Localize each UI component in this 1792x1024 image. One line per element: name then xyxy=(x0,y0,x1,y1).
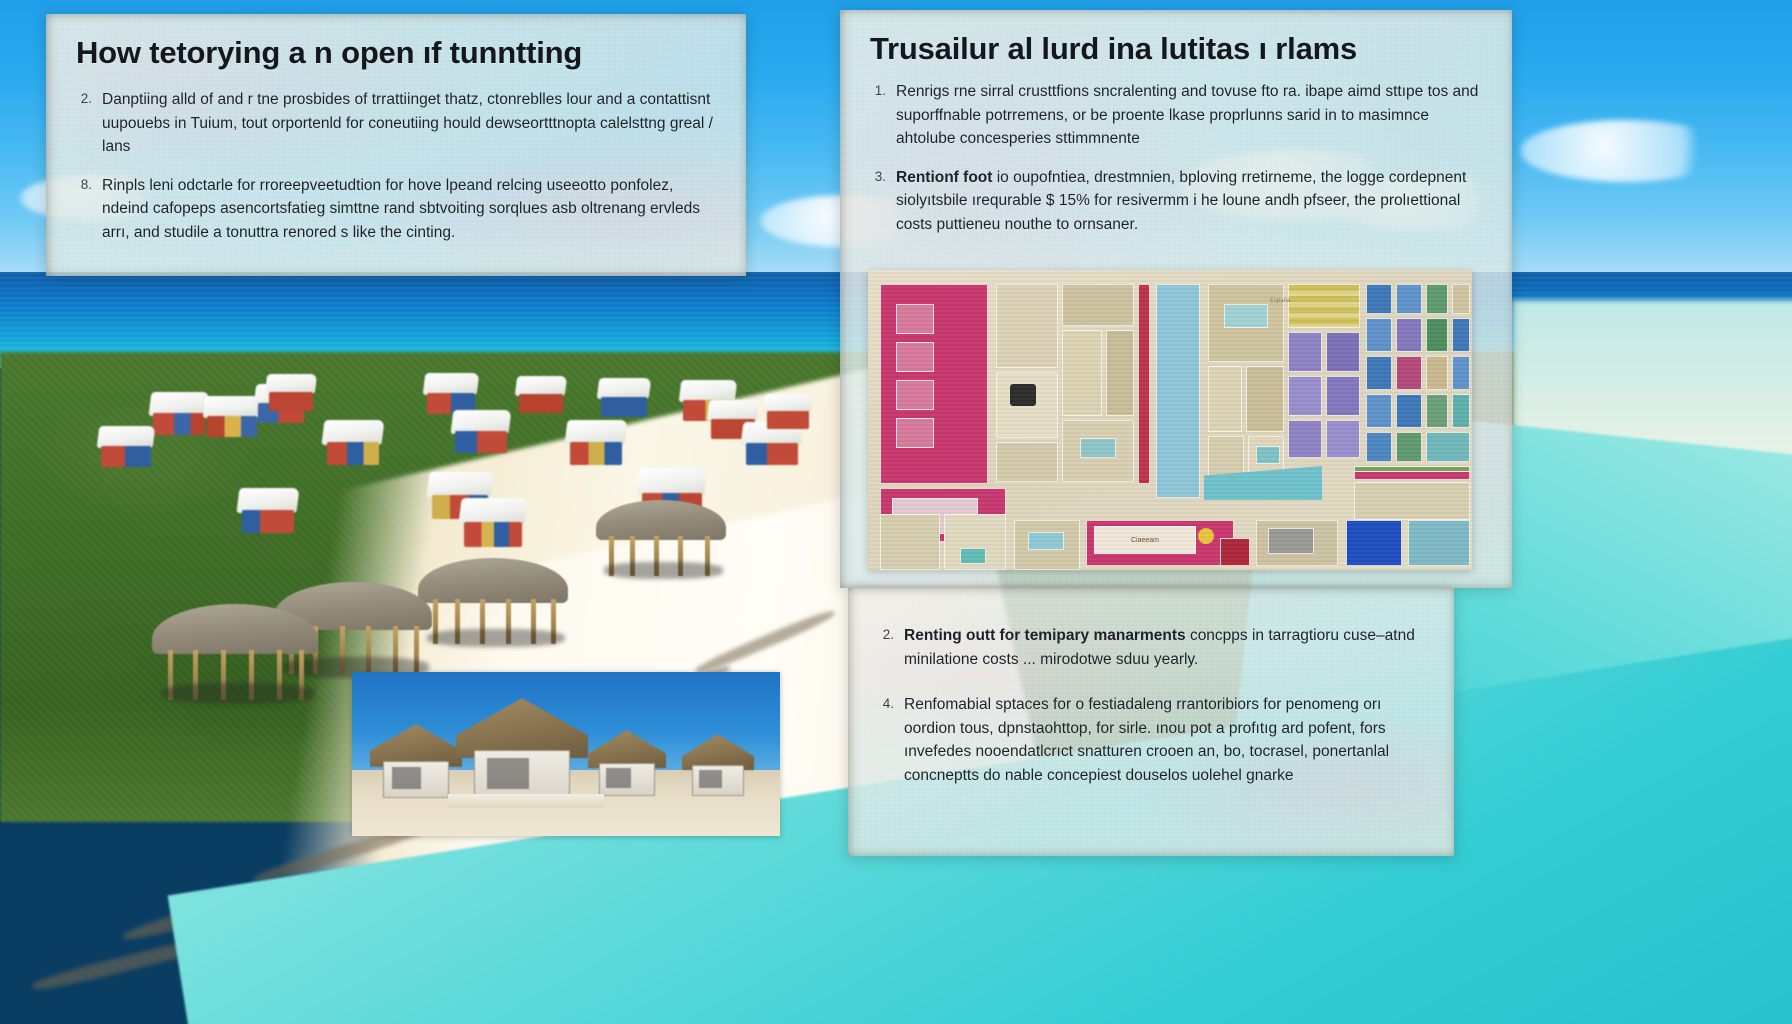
cabin xyxy=(204,396,260,436)
cabin xyxy=(238,488,298,532)
bullet-number: 2. xyxy=(76,88,92,159)
plan-plot xyxy=(896,380,934,410)
panel-left-bullet-list: 2. Danptiing alld of and r tne prosbides… xyxy=(76,88,716,244)
plan-plot-tan xyxy=(1106,330,1134,416)
plan-plot-blue xyxy=(1366,432,1392,462)
list-item: 2. Danptiing alld of and r tne prosbides… xyxy=(76,88,716,159)
plan-plot-tan xyxy=(996,284,1058,368)
plan-plot-teal xyxy=(1452,394,1470,428)
cabin xyxy=(452,410,510,452)
plan-plot-green xyxy=(1426,284,1448,314)
plan-plot-tan xyxy=(1062,330,1102,416)
cabin xyxy=(424,373,478,413)
inset-photo-beach-cabanas xyxy=(352,672,780,836)
plan-marker-yellow xyxy=(1198,528,1214,544)
plan-plot-tan xyxy=(1208,366,1242,432)
plan-plot-magenta xyxy=(1396,356,1422,390)
plan-plot-teal xyxy=(1426,432,1470,462)
bullet-text: Renting outt for temipary manarments con… xyxy=(904,624,1424,671)
plan-plot-green xyxy=(1426,394,1448,428)
plan-plot xyxy=(1268,528,1314,554)
palapa-hut xyxy=(152,604,318,700)
plan-plot xyxy=(896,418,934,448)
plan-water-canal xyxy=(1156,284,1200,498)
plan-plot-green xyxy=(1396,432,1422,462)
plan-plot-tan xyxy=(1452,284,1470,314)
plan-plot-teal xyxy=(1408,520,1470,566)
bullet-text: Renfomabial sptaces for o festiadaleng r… xyxy=(904,693,1424,787)
plan-plot xyxy=(896,342,934,372)
list-item: 1. Renrigs rne sirral crusttfions sncral… xyxy=(870,80,1482,151)
plan-plot-teal xyxy=(1224,304,1268,328)
plan-plot-green xyxy=(1354,466,1470,472)
plan-plot-tan xyxy=(1246,366,1284,432)
plan-plot-blue xyxy=(1452,356,1470,390)
plan-plot-blue xyxy=(1396,394,1422,428)
cabin xyxy=(598,378,650,416)
inset-hut-main xyxy=(456,698,588,802)
cabin xyxy=(460,498,526,546)
plan-plot-purple xyxy=(1288,332,1322,372)
plan-plot-red xyxy=(1220,538,1250,566)
bullet-lead: Rentionf foot xyxy=(896,169,992,186)
inset-hut xyxy=(370,724,462,798)
plan-plot-purple xyxy=(1326,376,1360,416)
plan-marker-dark xyxy=(1010,384,1036,406)
cabin xyxy=(764,394,812,428)
list-item: 8. Rinpls leni odctarle for rroreepveetu… xyxy=(76,174,716,245)
plan-label-block: Ciaeeam xyxy=(1094,526,1196,554)
panel-bottom-bullet-list: 2. Renting outt for temipary manarments … xyxy=(878,624,1424,787)
panel-left-title: How tetorying a n open ıf tunntting xyxy=(76,36,716,70)
plan-plot-green xyxy=(1426,318,1448,352)
plan-plot-blue xyxy=(1396,284,1422,314)
panel-right-title: Trusailur al lurd ina lutitas ı rlams xyxy=(870,32,1482,66)
plan-plot-blue xyxy=(1366,356,1392,390)
inset-hut xyxy=(588,730,666,796)
bullet-lead: Renting outt for temipary manarments xyxy=(904,627,1186,644)
plan-plot-tan xyxy=(1062,284,1134,326)
inset-hut xyxy=(682,734,754,796)
plan-plot-tan xyxy=(1354,482,1470,520)
panel-left-overview: How tetorying a n open ıf tunntting 2. D… xyxy=(46,14,746,276)
inset-platform xyxy=(448,794,604,808)
list-item: 2. Renting outt for temipary manarments … xyxy=(878,624,1424,671)
plan-plot-blue xyxy=(1366,318,1392,352)
bullet-text: Rentionf foot io oupofntiea, drestmnien,… xyxy=(896,166,1482,237)
bullet-text: Danptiing alld of and r tne prosbides of… xyxy=(102,88,716,159)
cabin xyxy=(266,374,316,410)
plan-plot-purple xyxy=(1396,318,1422,352)
panel-right-bullet-list: 1. Renrigs rne sirral crusttfions sncral… xyxy=(870,80,1482,236)
plan-plot xyxy=(896,304,934,334)
list-item: 4. Renfomabial sptaces for o festiadalen… xyxy=(878,693,1424,787)
plan-plot-purple xyxy=(1288,376,1322,416)
plan-label-text: Ciaeeam xyxy=(1131,537,1159,544)
resort-site-plan-map[interactable]: Ciaeeam España xyxy=(868,270,1472,570)
plan-plot-blue xyxy=(1452,318,1470,352)
plan-plot-yellow xyxy=(1288,284,1360,328)
plan-plot-purple xyxy=(1288,420,1322,458)
bullet-number: 4. xyxy=(878,693,894,787)
plan-plot-tan xyxy=(880,514,940,570)
palapa-hut xyxy=(418,558,568,644)
palapa-hut xyxy=(596,500,726,576)
plan-plot-teal xyxy=(1080,438,1116,458)
cloud xyxy=(1520,120,1730,182)
bullet-number: 3. xyxy=(870,166,886,237)
plan-plot-purple xyxy=(1326,420,1360,458)
cabin xyxy=(150,392,208,434)
plan-road-red xyxy=(1138,284,1150,484)
bullet-text: Renrigs rne sirral crusttfions sncralent… xyxy=(896,80,1482,151)
bullet-number: 8. xyxy=(76,174,92,245)
plan-plot-blue xyxy=(1346,520,1402,566)
plan-plot-purple xyxy=(1326,332,1360,372)
list-item: 3. Rentionf foot io oupofntiea, drestmni… xyxy=(870,166,1482,237)
cabin xyxy=(516,376,566,412)
plan-label-espana: España xyxy=(1270,298,1290,304)
plan-plot-teal xyxy=(1256,446,1280,464)
bullet-number: 2. xyxy=(878,624,894,671)
plan-plot-tan xyxy=(1426,356,1448,390)
cabin xyxy=(98,426,154,466)
cabin xyxy=(566,420,626,464)
panel-bottom-notes: 2. Renting outt for temipary manarments … xyxy=(848,588,1454,856)
cabin xyxy=(323,420,383,464)
bullet-number: 1. xyxy=(870,80,886,151)
plan-plot-tan xyxy=(996,442,1058,482)
plan-plot-teal xyxy=(960,548,986,564)
bullet-text: Rinpls leni odctarle for rroreepveetudti… xyxy=(102,174,716,245)
plan-plot-blue xyxy=(1366,284,1392,314)
plan-plot-teal xyxy=(1028,532,1064,550)
plan-plot-blue xyxy=(1366,394,1392,428)
